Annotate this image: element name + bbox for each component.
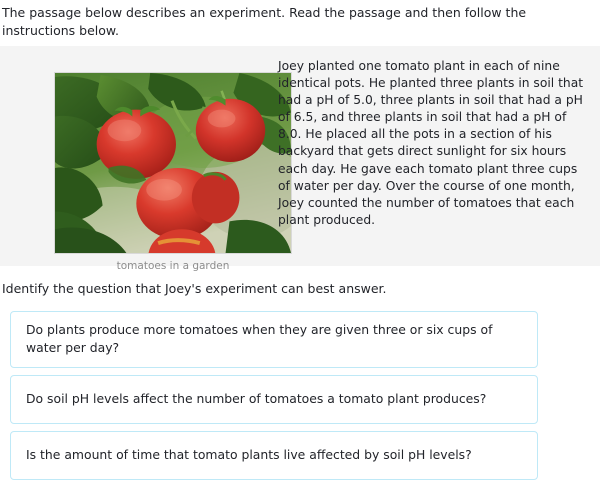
passage-text: Joey planted one tomato plant in each of… [278, 58, 588, 229]
passage-panel: tomatoes in a garden Joey planted one to… [0, 46, 600, 266]
answer-option-3[interactable]: Is the amount of time that tomato plants… [10, 431, 538, 480]
passage-figure: tomatoes in a garden [54, 72, 292, 273]
answer-options-list: Do plants produce more tomatoes when the… [10, 311, 538, 487]
instructions-text: The passage below describes an experimen… [2, 4, 584, 40]
answer-option-1[interactable]: Do plants produce more tomatoes when the… [10, 311, 538, 368]
tomatoes-photo [54, 72, 292, 254]
question-prompt: Identify the question that Joey's experi… [2, 280, 582, 298]
answer-option-2[interactable]: Do soil pH levels affect the number of t… [10, 375, 538, 424]
figure-caption: tomatoes in a garden [54, 254, 292, 273]
